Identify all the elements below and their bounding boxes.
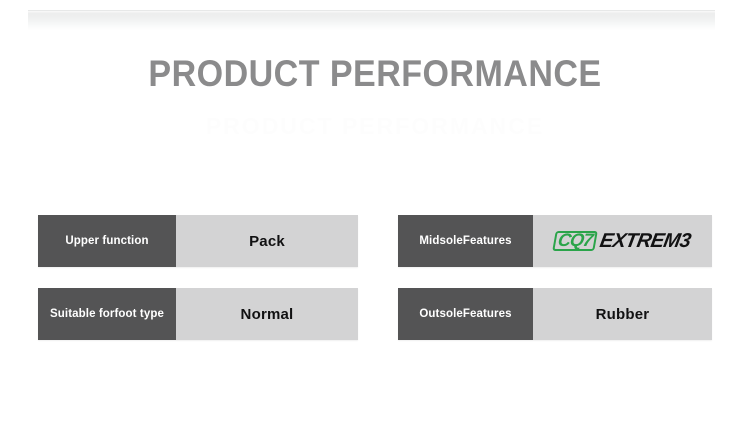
table-row: Suitable for foot type Normal <box>38 288 358 340</box>
table-row: Midsole Features CQ7 EXTREM3 <box>398 215 712 267</box>
spec-table-left: Upper function Pack Suitable for foot ty… <box>38 215 358 340</box>
brand-logo-cq7-extrem3: CQ7 EXTREM3 <box>553 231 693 251</box>
table-row: Upper function Pack <box>38 215 358 267</box>
spec-label-upper-function: Upper function <box>38 215 176 267</box>
spec-label-line-2: Features <box>463 308 512 321</box>
spec-label-line-1: Suitable for <box>50 308 114 321</box>
spec-value-outsole-features: Rubber <box>533 288 712 340</box>
title-watermark: PRODUCT PERFORMANCE <box>0 113 750 139</box>
brand-mark-icon: CQ7 <box>553 231 599 251</box>
spec-value-midsole-features: CQ7 EXTREM3 <box>533 215 712 267</box>
spec-label-line-2: Features <box>463 235 512 248</box>
spec-label-midsole-features: Midsole Features <box>398 215 533 267</box>
spec-label-outsole-features: Outsole Features <box>398 288 533 340</box>
spec-label-foot-type: Suitable for foot type <box>38 288 176 340</box>
page-title: PRODUCT PERFORMANCE <box>30 52 720 96</box>
top-decorative-band <box>28 10 715 30</box>
spec-value-upper-function: Pack <box>176 215 358 267</box>
spec-value-foot-type: Normal <box>176 288 358 340</box>
spec-label-line-1: Midsole <box>419 235 463 248</box>
spec-table-right: Midsole Features CQ7 EXTREM3 Outsole Fea… <box>398 215 712 340</box>
spec-label-line-1: Outsole <box>419 308 463 321</box>
brand-wordmark: EXTREM3 <box>599 231 693 251</box>
table-row: Outsole Features Rubber <box>398 288 712 340</box>
spec-label-line-2: foot type <box>115 308 164 321</box>
